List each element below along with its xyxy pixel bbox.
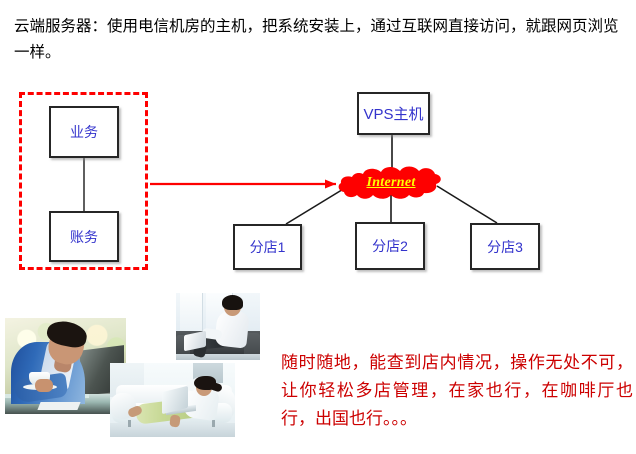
node-vps-host-label: VPS主机	[363, 103, 423, 124]
line-internet-to-branch3	[437, 186, 497, 223]
marketing-paragraph: 随时随地，能查到店内情况，操作无处不可，让你轻松多店管理，在家也行，在咖啡厅也行…	[281, 349, 633, 433]
node-zhangwu[interactable]: 账务	[49, 211, 119, 262]
couch-leg-left	[128, 420, 131, 427]
internet-cloud-label: Internet	[336, 164, 446, 202]
node-yewu-label: 业务	[70, 122, 98, 142]
node-branch-2-label: 分店2	[372, 236, 408, 256]
photo-man-cafe-laptop	[5, 318, 126, 414]
person-hand	[35, 379, 53, 392]
page-title: 云端服务器：使用电信机房的主机，把系统安装上，通过互联网直接访问，就跟网页浏览一…	[14, 14, 626, 66]
node-branch-3[interactable]: 分店3	[470, 223, 540, 270]
photo-woman-white-couch-laptop	[110, 363, 235, 437]
photo-woman-dark-sofa-laptop	[176, 293, 260, 360]
node-vps-host[interactable]: VPS主机	[357, 92, 430, 135]
node-branch-2[interactable]: 分店2	[355, 222, 425, 270]
floor	[176, 354, 260, 360]
couch-leg-right	[212, 420, 215, 427]
node-branch-1-label: 分店1	[250, 237, 286, 257]
slide-canvas: 云端服务器：使用电信机房的主机，把系统安装上，通过互联网直接访问，就跟网页浏览一…	[0, 0, 636, 454]
paper-sheet	[37, 402, 80, 410]
node-zhangwu-label: 账务	[70, 227, 98, 247]
internet-cloud[interactable]: Internet	[336, 164, 446, 202]
node-branch-1[interactable]: 分店1	[233, 224, 302, 270]
person-hair	[222, 295, 243, 310]
node-branch-3-label: 分店3	[487, 237, 523, 257]
node-yewu[interactable]: 业务	[49, 106, 119, 158]
arrow-head-icon	[325, 180, 336, 189]
